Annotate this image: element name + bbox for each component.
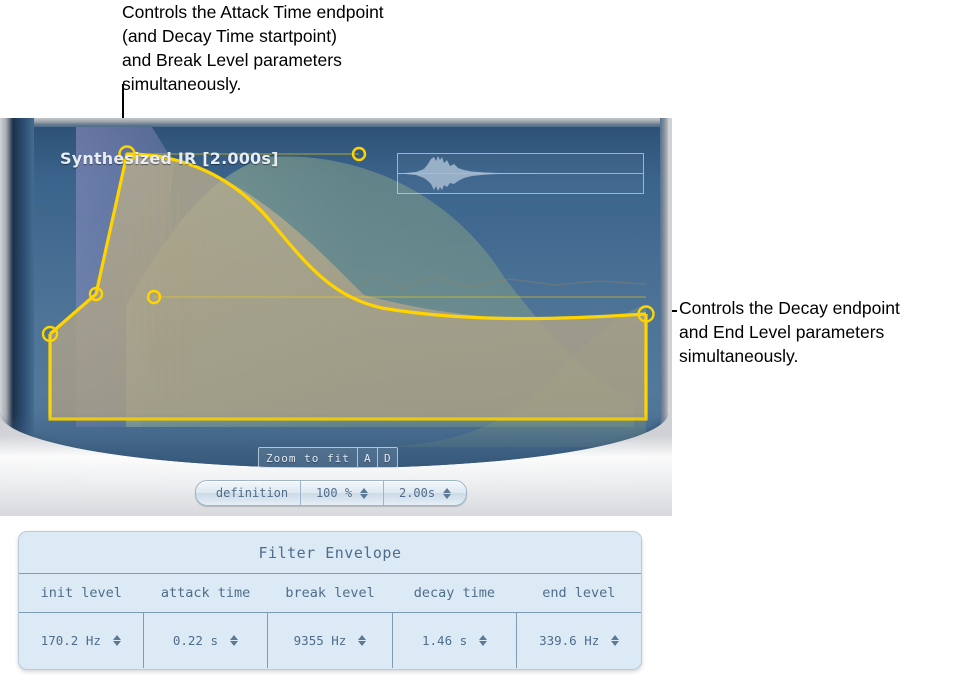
value-end-level: 339.6 Hz xyxy=(539,633,599,648)
column-header-decay-time: decay time xyxy=(392,574,516,612)
stepper-up-icon xyxy=(358,635,366,640)
value-break-level: 9355 Hz xyxy=(294,633,347,648)
stepper-up-icon xyxy=(479,635,487,640)
field-break-level[interactable]: 9355 Hz xyxy=(268,613,393,668)
stepper-up-icon xyxy=(360,488,368,493)
definition-control-strip[interactable]: definition 100 % 2.00s xyxy=(195,480,467,506)
stepper-up-icon xyxy=(443,488,451,493)
field-init-level[interactable]: 170.2 Hz xyxy=(19,613,144,668)
zoom-to-fit-control[interactable]: Zoom to fit A D xyxy=(258,447,398,468)
waveform-overview[interactable] xyxy=(397,153,644,194)
field-attack-time[interactable]: 0.22 s xyxy=(144,613,269,668)
stepper-down-icon xyxy=(360,494,368,499)
field-decay-time[interactable]: 1.46 s xyxy=(393,613,518,668)
column-header-end-level: end level xyxy=(517,574,641,612)
decay-time-stepper[interactable] xyxy=(479,635,487,646)
stepper-up-icon xyxy=(113,635,121,640)
definition-label: definition xyxy=(196,481,301,505)
attack-time-stepper[interactable] xyxy=(230,635,238,646)
field-end-level[interactable]: 339.6 Hz xyxy=(517,613,641,668)
definition-length-field[interactable]: 2.00s xyxy=(384,481,466,505)
screen-top-bevel xyxy=(0,118,668,127)
definition-length-value: 2.00s xyxy=(399,486,435,500)
column-header-init-level: init level xyxy=(19,574,143,612)
definition-percent-field[interactable]: 100 % xyxy=(301,481,384,505)
filter-envelope-header-row: init level attack time break level decay… xyxy=(19,574,641,613)
filter-envelope-title: Filter Envelope xyxy=(19,532,641,574)
annotation-attack-break: Controls the Attack Time endpoint (and D… xyxy=(122,0,522,96)
stepper-down-icon xyxy=(443,494,451,499)
stepper-down-icon xyxy=(611,641,619,646)
value-attack-time: 0.22 s xyxy=(173,633,218,648)
waveform-overview-svg xyxy=(398,154,643,193)
annotation-decay-end: Controls the Decay endpoint and End Leve… xyxy=(679,296,969,368)
stepper-down-icon xyxy=(358,641,366,646)
stepper-down-icon xyxy=(230,641,238,646)
definition-length-stepper[interactable] xyxy=(443,488,451,499)
stepper-down-icon xyxy=(113,641,121,646)
stepper-up-icon xyxy=(611,635,619,640)
break-level-stepper[interactable] xyxy=(358,635,366,646)
filter-envelope-panel: Filter Envelope init level attack time b… xyxy=(18,531,642,670)
ir-label: Synthesized IR [2.000s] xyxy=(60,149,279,168)
column-header-attack-time: attack time xyxy=(143,574,267,612)
filter-envelope-value-row: 170.2 Hz 0.22 s 9355 Hz 1.46 s xyxy=(19,613,641,668)
zoom-to-fit-a-button[interactable]: A xyxy=(357,448,377,467)
zoom-to-fit-d-button[interactable]: D xyxy=(377,448,397,467)
definition-percent-stepper[interactable] xyxy=(360,488,368,499)
stepper-up-icon xyxy=(230,635,238,640)
init-level-stepper[interactable] xyxy=(113,635,121,646)
value-decay-time: 1.46 s xyxy=(422,633,467,648)
column-header-break-level: break level xyxy=(268,574,392,612)
definition-percent-value: 100 % xyxy=(316,486,352,500)
ir-display-screen[interactable]: Synthesized IR [2.000s] xyxy=(0,118,668,468)
value-init-level: 170.2 Hz xyxy=(41,633,101,648)
envelope-graph[interactable]: Synthesized IR [2.000s] xyxy=(34,127,660,447)
stepper-down-icon xyxy=(479,641,487,646)
zoom-to-fit-label[interactable]: Zoom to fit xyxy=(259,448,357,467)
end-level-stepper[interactable] xyxy=(611,635,619,646)
